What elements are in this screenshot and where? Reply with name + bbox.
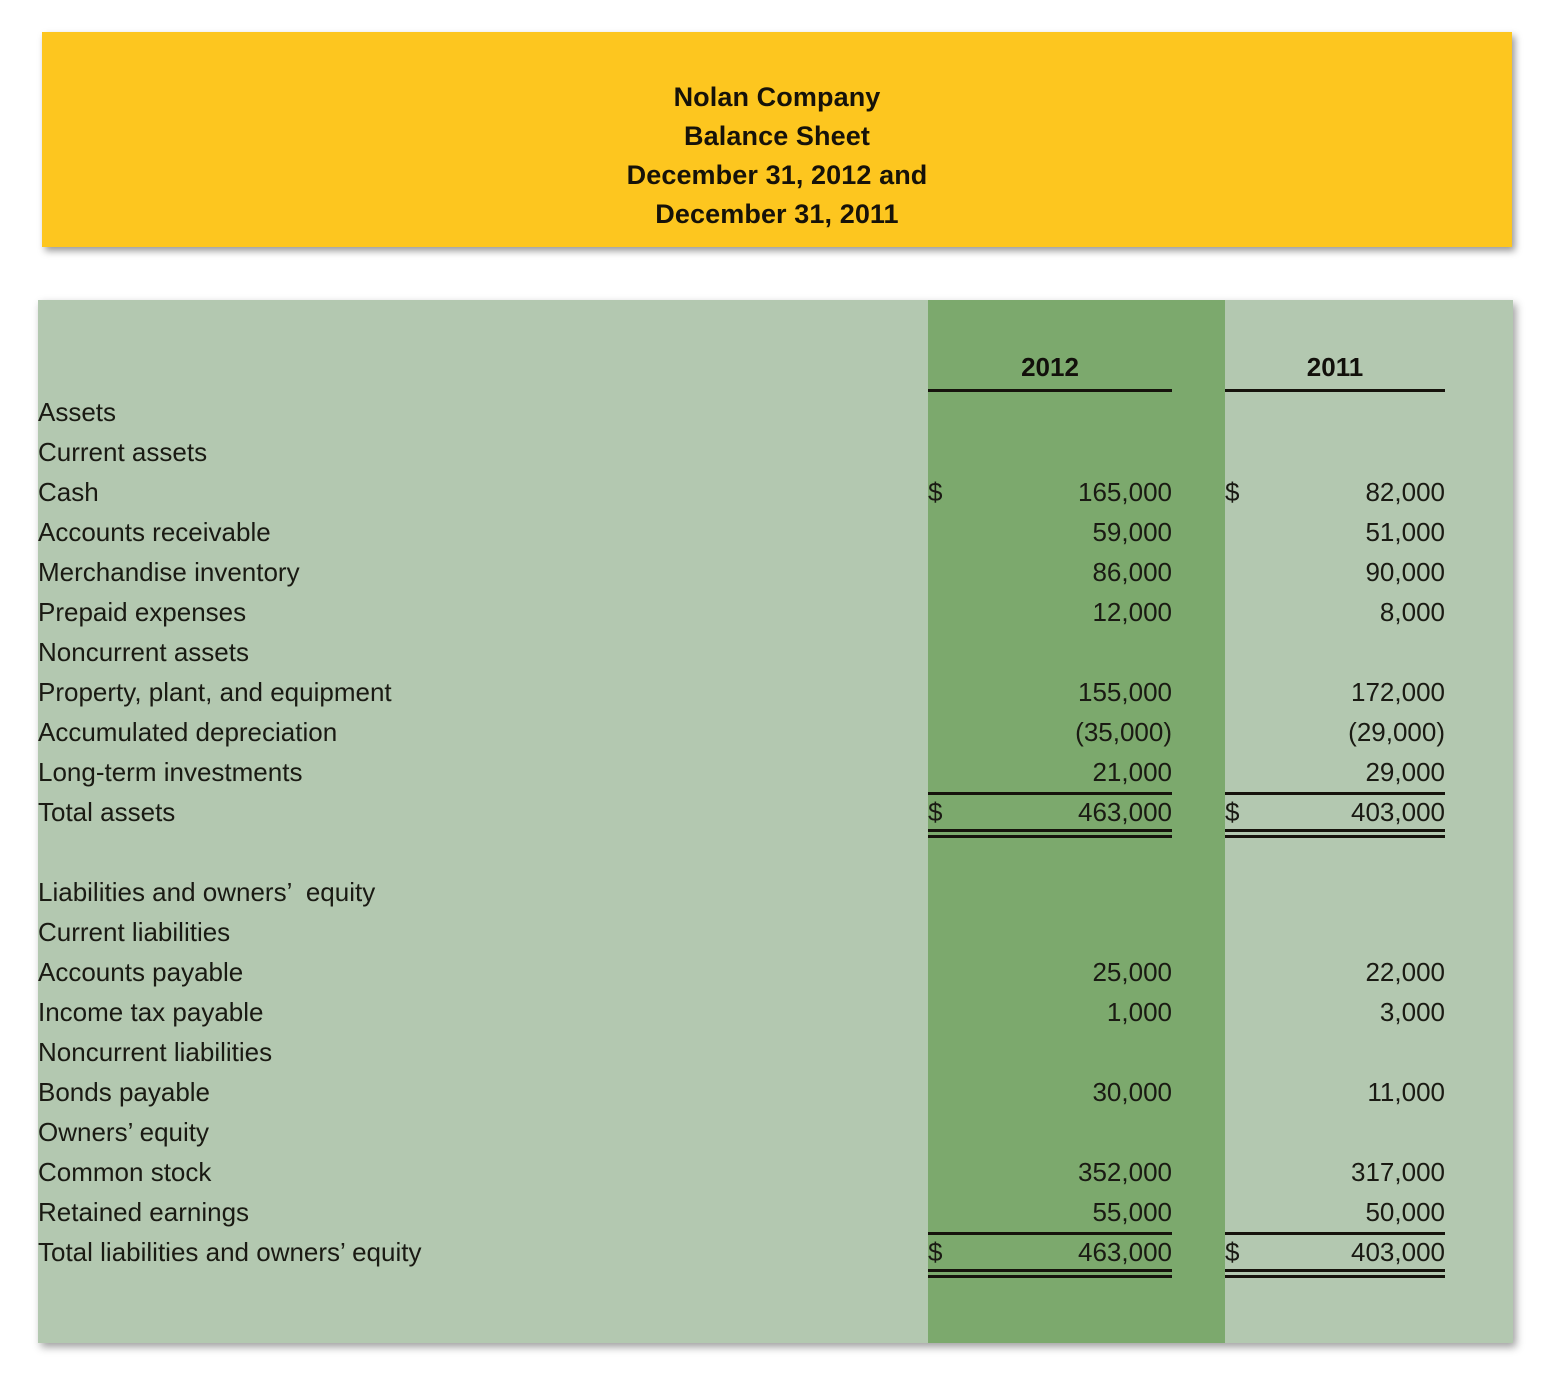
row-gap-2012 — [1172, 592, 1225, 632]
value-dollar-2012-text — [928, 1072, 986, 1112]
value-2012-text: 25,000 — [986, 952, 1172, 992]
value-dollar-2011-text — [1225, 512, 1287, 552]
value-dollar-2011-text — [1225, 672, 1287, 712]
value-2011: 403,000 — [1287, 792, 1445, 832]
value-dollar-2012 — [928, 1112, 986, 1152]
value-dollar-2012 — [928, 1152, 986, 1192]
value-dollar-2011 — [1225, 752, 1287, 792]
row-gap-2012 — [1172, 1192, 1225, 1232]
row-trailing-pad — [1445, 632, 1513, 672]
value-dollar-2011 — [1225, 392, 1287, 432]
row-gap-2012 — [1172, 712, 1225, 752]
value-dollar-2011-text — [1225, 1152, 1287, 1192]
row-gap-2012 — [1172, 1032, 1225, 1072]
row-label: Owners’ equity — [38, 1112, 928, 1152]
row-gap-2012 — [1172, 472, 1225, 512]
row-trailing-pad — [1445, 1112, 1513, 1152]
value-2011: 82,000 — [1287, 472, 1445, 512]
value-2012: 463,000 — [986, 792, 1172, 832]
value-2011 — [1287, 912, 1445, 952]
value-2011-text: 3,000 — [1287, 992, 1445, 1032]
value-2012: 86,000 — [986, 552, 1172, 592]
value-2012: 1,000 — [986, 992, 1172, 1032]
value-2012-text — [986, 1032, 1172, 1072]
value-2012-text: 12,000 — [986, 592, 1172, 632]
value-dollar-2011: $ — [1225, 472, 1287, 512]
value-dollar-2011 — [1225, 512, 1287, 552]
row-trailing-pad — [1445, 992, 1513, 1032]
row-trailing-pad — [1445, 832, 1513, 872]
value-dollar-2012-text — [928, 672, 986, 712]
value-2011-text — [1287, 632, 1445, 672]
value-dollar-2011: $ — [1225, 792, 1287, 832]
value-2011-text: 317,000 — [1287, 1152, 1445, 1192]
column-header-2011: 2011 — [1225, 300, 1445, 392]
value-2012 — [986, 392, 1172, 432]
value-dollar-2012-grand-rule-top — [928, 792, 986, 795]
row-label: Noncurrent liabilities — [38, 1032, 928, 1072]
row-gap-2012 — [1172, 952, 1225, 992]
value-dollar-2012-text — [928, 592, 986, 632]
value-2011 — [1287, 872, 1445, 912]
value-2012: 352,000 — [986, 1152, 1172, 1192]
value-dollar-2012-text: $ — [928, 792, 986, 832]
table-row: Retained earnings55,00050,000 — [38, 1192, 1513, 1232]
row-gap-2012 — [1172, 992, 1225, 1032]
value-2012: 25,000 — [986, 952, 1172, 992]
value-dollar-2011-text — [1225, 1192, 1287, 1232]
value-2012-text: 463,000 — [986, 1232, 1172, 1272]
value-2012-text: 155,000 — [986, 672, 1172, 712]
row-label — [38, 832, 928, 872]
value-dollar-2011 — [1225, 1192, 1287, 1232]
value-dollar-2012-text — [928, 512, 986, 552]
row-label: Retained earnings — [38, 1192, 928, 1232]
value-2011 — [1287, 432, 1445, 472]
value-2012: 30,000 — [986, 1072, 1172, 1112]
value-2012 — [986, 1112, 1172, 1152]
value-dollar-2012 — [928, 992, 986, 1032]
value-dollar-2012-text — [928, 912, 986, 952]
value-dollar-2011-text — [1225, 552, 1287, 592]
table-row: Accounts receivable59,00051,000 — [38, 512, 1513, 552]
table-row: Total assets$463,000$403,000 — [38, 792, 1513, 832]
column-header-2011-label: 2011 — [1307, 352, 1363, 382]
row-label: Total liabilities and owners’ equity — [38, 1232, 928, 1272]
value-2012 — [986, 1032, 1172, 1072]
row-label: Total assets — [38, 792, 928, 832]
row-label: Merchandise inventory — [38, 552, 928, 592]
value-2012-text: 59,000 — [986, 512, 1172, 552]
value-dollar-2011 — [1225, 1072, 1287, 1112]
row-gap-2012 — [1172, 672, 1225, 712]
row-gap-2012 — [1172, 1072, 1225, 1112]
value-2012: 55,000 — [986, 1192, 1172, 1232]
value-2011-text: 29,000 — [1287, 752, 1445, 792]
row-trailing-pad — [1445, 472, 1513, 512]
value-2011-text — [1287, 832, 1445, 872]
table-row: Total liabilities and owners’ equity$463… — [38, 1232, 1513, 1272]
row-gap-2012 — [1172, 632, 1225, 672]
value-2011-text: 22,000 — [1287, 952, 1445, 992]
table-row: Accumulated depreciation(35,000)(29,000) — [38, 712, 1513, 752]
value-dollar-2012-text — [928, 1152, 986, 1192]
value-dollar-2011 — [1225, 952, 1287, 992]
table-row: Accounts payable25,00022,000 — [38, 952, 1513, 992]
table-row: Noncurrent liabilities — [38, 1032, 1513, 1072]
row-trailing-pad — [1445, 1152, 1513, 1192]
value-2011: 317,000 — [1287, 1152, 1445, 1192]
value-dollar-2011-text — [1225, 752, 1287, 792]
value-2012-grand-rule-top — [986, 792, 1172, 795]
value-dollar-2011 — [1225, 912, 1287, 952]
value-dollar-2012-text — [928, 432, 986, 472]
value-dollar-2011 — [1225, 872, 1287, 912]
value-dollar-2011-text — [1225, 592, 1287, 632]
row-label: Long-term investments — [38, 752, 928, 792]
table-row: Cash$165,000$82,000 — [38, 472, 1513, 512]
value-2012: 12,000 — [986, 592, 1172, 632]
value-2011: 11,000 — [1287, 1072, 1445, 1112]
value-dollar-2011 — [1225, 552, 1287, 592]
value-2012: 21,000 — [986, 752, 1172, 792]
row-trailing-pad — [1445, 1232, 1513, 1272]
row-gap-2012 — [1172, 1232, 1225, 1272]
value-2011-text: 11,000 — [1287, 1072, 1445, 1112]
value-dollar-2012-grand-rule-bottom — [928, 1269, 986, 1278]
row-trailing-pad — [1445, 592, 1513, 632]
value-dollar-2012-grand-rule-top — [928, 1232, 986, 1235]
value-dollar-2012-text — [928, 992, 986, 1032]
header-label-blank — [38, 300, 928, 392]
value-dollar-2011-text — [1225, 912, 1287, 952]
value-2012-text — [986, 392, 1172, 432]
value-2011 — [1287, 832, 1445, 872]
value-dollar-2011-grand-rule-top — [1225, 792, 1287, 795]
value-2011-text — [1287, 912, 1445, 952]
value-dollar-2012: $ — [928, 1232, 986, 1272]
row-label: Accounts receivable — [38, 512, 928, 552]
value-2011-grand-rule-top — [1287, 792, 1445, 795]
row-label: Current assets — [38, 432, 928, 472]
value-2012-grand-rule-bottom — [986, 1269, 1172, 1278]
value-2012: 463,000 — [986, 1232, 1172, 1272]
row-gap-2012 — [1172, 552, 1225, 592]
row-trailing-pad — [1445, 1192, 1513, 1232]
value-dollar-2012-text — [928, 872, 986, 912]
value-dollar-2011-grand-rule-bottom — [1225, 1269, 1287, 1278]
table-row: Property, plant, and equipment155,000172… — [38, 672, 1513, 712]
value-dollar-2011-text — [1225, 632, 1287, 672]
row-trailing-pad — [1445, 512, 1513, 552]
value-2012: 165,000 — [986, 472, 1172, 512]
value-dollar-2012-text — [928, 392, 986, 432]
value-dollar-2011-text — [1225, 712, 1287, 752]
row-label: Property, plant, and equipment — [38, 672, 928, 712]
value-dollar-2011-text — [1225, 1072, 1287, 1112]
value-dollar-2012 — [928, 752, 986, 792]
value-2012: 59,000 — [986, 512, 1172, 552]
value-2011-text — [1287, 1032, 1445, 1072]
row-gap-2012 — [1172, 1112, 1225, 1152]
value-2012 — [986, 832, 1172, 872]
balance-sheet-table: 2012 2011 AssetsCurrent assetsCash$165,0… — [38, 300, 1513, 1272]
row-trailing-pad — [1445, 872, 1513, 912]
value-dollar-2012 — [928, 592, 986, 632]
value-dollar-2012-text — [928, 1032, 986, 1072]
table-row: Long-term investments21,00029,000 — [38, 752, 1513, 792]
value-dollar-2011: $ — [1225, 1232, 1287, 1272]
value-2012-text: 463,000 — [986, 792, 1172, 832]
row-gap-2012 — [1172, 912, 1225, 952]
row-trailing-pad — [1445, 672, 1513, 712]
value-dollar-2012 — [928, 912, 986, 952]
value-2012-text — [986, 872, 1172, 912]
table-row: Owners’ equity — [38, 1112, 1513, 1152]
value-2011-grand-rule-bottom — [1287, 1269, 1445, 1278]
value-dollar-2011-text — [1225, 392, 1287, 432]
value-2012-text — [986, 432, 1172, 472]
table-row: Merchandise inventory86,00090,000 — [38, 552, 1513, 592]
value-dollar-2011-text — [1225, 952, 1287, 992]
row-label: Income tax payable — [38, 992, 928, 1032]
value-2011-text — [1287, 1112, 1445, 1152]
value-dollar-2012 — [928, 432, 986, 472]
value-dollar-2011-text — [1225, 1112, 1287, 1152]
value-dollar-2011 — [1225, 832, 1287, 872]
row-trailing-pad — [1445, 1072, 1513, 1112]
row-label: Liabilities and owners’ equity — [38, 872, 928, 912]
title-line-statement: Balance Sheet — [684, 117, 870, 156]
table-row: Noncurrent assets — [38, 632, 1513, 672]
value-2011: 22,000 — [1287, 952, 1445, 992]
value-2011-grand-rule-top — [1287, 1232, 1445, 1235]
value-2011: 50,000 — [1287, 1192, 1445, 1232]
value-dollar-2011-text — [1225, 1032, 1287, 1072]
value-dollar-2011-text: $ — [1225, 792, 1287, 832]
value-dollar-2011-text — [1225, 432, 1287, 472]
value-2012 — [986, 432, 1172, 472]
value-2012: (35,000) — [986, 712, 1172, 752]
value-dollar-2012 — [928, 872, 986, 912]
row-label: Prepaid expenses — [38, 592, 928, 632]
value-2012-text: (35,000) — [986, 712, 1172, 752]
row-label: Current liabilities — [38, 912, 928, 952]
value-2011-text: 51,000 — [1287, 512, 1445, 552]
value-2012-text: 165,000 — [986, 472, 1172, 512]
value-dollar-2011 — [1225, 992, 1287, 1032]
value-dollar-2012-text — [928, 832, 986, 872]
table-row: Assets — [38, 392, 1513, 432]
value-dollar-2012-text — [928, 552, 986, 592]
value-2012-text: 1,000 — [986, 992, 1172, 1032]
value-2012: 155,000 — [986, 672, 1172, 712]
row-gap-2012 — [1172, 792, 1225, 832]
table-row: Bonds payable30,00011,000 — [38, 1072, 1513, 1112]
value-dollar-2012-text — [928, 712, 986, 752]
row-trailing-pad — [1445, 712, 1513, 752]
table-row: Current assets — [38, 432, 1513, 472]
value-2011: 403,000 — [1287, 1232, 1445, 1272]
value-dollar-2012 — [928, 832, 986, 872]
value-dollar-2011 — [1225, 432, 1287, 472]
row-label: Assets — [38, 392, 928, 432]
value-dollar-2012: $ — [928, 792, 986, 832]
value-dollar-2012 — [928, 512, 986, 552]
value-2012 — [986, 912, 1172, 952]
header-gap-cell — [1172, 300, 1225, 392]
row-gap-2012 — [1172, 1152, 1225, 1192]
title-line-company: Nolan Company — [674, 78, 881, 117]
value-dollar-2012 — [928, 392, 986, 432]
row-trailing-pad — [1445, 552, 1513, 592]
value-dollar-2012 — [928, 632, 986, 672]
value-dollar-2011 — [1225, 592, 1287, 632]
table-header-row: 2012 2011 — [38, 300, 1513, 392]
row-gap-2012 — [1172, 512, 1225, 552]
value-dollar-2012-text — [928, 752, 986, 792]
value-2012 — [986, 632, 1172, 672]
table-spacer-row — [38, 832, 1513, 872]
table-row: Prepaid expenses12,0008,000 — [38, 592, 1513, 632]
value-2011 — [1287, 1112, 1445, 1152]
row-label: Accounts payable — [38, 952, 928, 992]
value-dollar-2011 — [1225, 1112, 1287, 1152]
value-dollar-2012 — [928, 672, 986, 712]
value-dollar-2012-text — [928, 1192, 986, 1232]
value-dollar-2012-text: $ — [928, 472, 986, 512]
value-dollar-2011-text — [1225, 992, 1287, 1032]
value-2012-text — [986, 1112, 1172, 1152]
value-dollar-2012-text: $ — [928, 1232, 986, 1272]
row-trailing-pad — [1445, 752, 1513, 792]
value-dollar-2012 — [928, 1072, 986, 1112]
value-2011: 8,000 — [1287, 592, 1445, 632]
value-dollar-2011-text — [1225, 872, 1287, 912]
value-dollar-2011-text: $ — [1225, 1232, 1287, 1272]
column-header-2012: 2012 — [928, 300, 1172, 392]
row-gap-2012 — [1172, 392, 1225, 432]
value-2011: 172,000 — [1287, 672, 1445, 712]
value-dollar-2011 — [1225, 1032, 1287, 1072]
value-2011-text: 50,000 — [1287, 1192, 1445, 1232]
value-2011-text: 82,000 — [1287, 472, 1445, 512]
value-dollar-2012 — [928, 1032, 986, 1072]
value-dollar-2011 — [1225, 632, 1287, 672]
value-2011 — [1287, 1032, 1445, 1072]
value-2011 — [1287, 632, 1445, 672]
value-dollar-2012 — [928, 1192, 986, 1232]
value-2011-text: 8,000 — [1287, 592, 1445, 632]
value-2012-text — [986, 832, 1172, 872]
value-dollar-2012 — [928, 952, 986, 992]
value-dollar-2011-grand-rule-top — [1225, 1232, 1287, 1235]
title-card: Nolan Company Balance Sheet December 31,… — [42, 32, 1512, 247]
row-label: Bonds payable — [38, 1072, 928, 1112]
title-line-date-1: December 31, 2012 and — [627, 156, 928, 195]
value-dollar-2011-text — [1225, 832, 1287, 872]
title-line-date-2: December 31, 2011 — [655, 195, 898, 234]
balance-sheet-panel: 2012 2011 AssetsCurrent assetsCash$165,0… — [38, 300, 1513, 1343]
value-dollar-2012 — [928, 552, 986, 592]
value-2011-text — [1287, 392, 1445, 432]
value-dollar-2012-text — [928, 1112, 986, 1152]
row-label: Cash — [38, 472, 928, 512]
row-gap-2012 — [1172, 832, 1225, 872]
value-2011-text: (29,000) — [1287, 712, 1445, 752]
value-2011: 3,000 — [1287, 992, 1445, 1032]
row-gap-2012 — [1172, 432, 1225, 472]
table-body: AssetsCurrent assetsCash$165,000$82,000A… — [38, 392, 1513, 1272]
value-2011-text — [1287, 872, 1445, 912]
row-gap-2012 — [1172, 752, 1225, 792]
value-2011-text: 403,000 — [1287, 792, 1445, 832]
value-dollar-2012 — [928, 712, 986, 752]
value-dollar-2011-text: $ — [1225, 472, 1287, 512]
header-trailing-pad — [1445, 300, 1513, 392]
value-dollar-2011 — [1225, 672, 1287, 712]
value-dollar-2012-text — [928, 632, 986, 672]
row-trailing-pad — [1445, 792, 1513, 832]
row-label: Noncurrent assets — [38, 632, 928, 672]
value-dollar-2011 — [1225, 712, 1287, 752]
row-trailing-pad — [1445, 912, 1513, 952]
value-2012 — [986, 872, 1172, 912]
value-2011: (29,000) — [1287, 712, 1445, 752]
row-label: Accumulated depreciation — [38, 712, 928, 752]
value-2012-text: 30,000 — [986, 1072, 1172, 1112]
value-2012-text: 86,000 — [986, 552, 1172, 592]
value-2012-text: 352,000 — [986, 1152, 1172, 1192]
table-row: Income tax payable1,0003,000 — [38, 992, 1513, 1032]
value-dollar-2011 — [1225, 1152, 1287, 1192]
value-2011-text: 403,000 — [1287, 1232, 1445, 1272]
column-header-2012-label: 2012 — [1021, 352, 1079, 382]
value-2012-text — [986, 912, 1172, 952]
value-2012-text: 55,000 — [986, 1192, 1172, 1232]
value-2011-text — [1287, 432, 1445, 472]
value-2011: 29,000 — [1287, 752, 1445, 792]
value-dollar-2012-text — [928, 952, 986, 992]
value-2011: 90,000 — [1287, 552, 1445, 592]
value-2011-text: 90,000 — [1287, 552, 1445, 592]
row-trailing-pad — [1445, 432, 1513, 472]
row-trailing-pad — [1445, 392, 1513, 432]
row-gap-2012 — [1172, 872, 1225, 912]
row-trailing-pad — [1445, 952, 1513, 992]
value-dollar-2012: $ — [928, 472, 986, 512]
table-row: Liabilities and owners’ equity — [38, 872, 1513, 912]
value-2012-text: 21,000 — [986, 752, 1172, 792]
table-row: Common stock352,000317,000 — [38, 1152, 1513, 1192]
value-2011: 51,000 — [1287, 512, 1445, 552]
value-2011 — [1287, 392, 1445, 432]
table-row: Current liabilities — [38, 912, 1513, 952]
value-2012-text — [986, 632, 1172, 672]
value-2012-grand-rule-top — [986, 1232, 1172, 1235]
row-trailing-pad — [1445, 1032, 1513, 1072]
row-label: Common stock — [38, 1152, 928, 1192]
value-2011-text: 172,000 — [1287, 672, 1445, 712]
